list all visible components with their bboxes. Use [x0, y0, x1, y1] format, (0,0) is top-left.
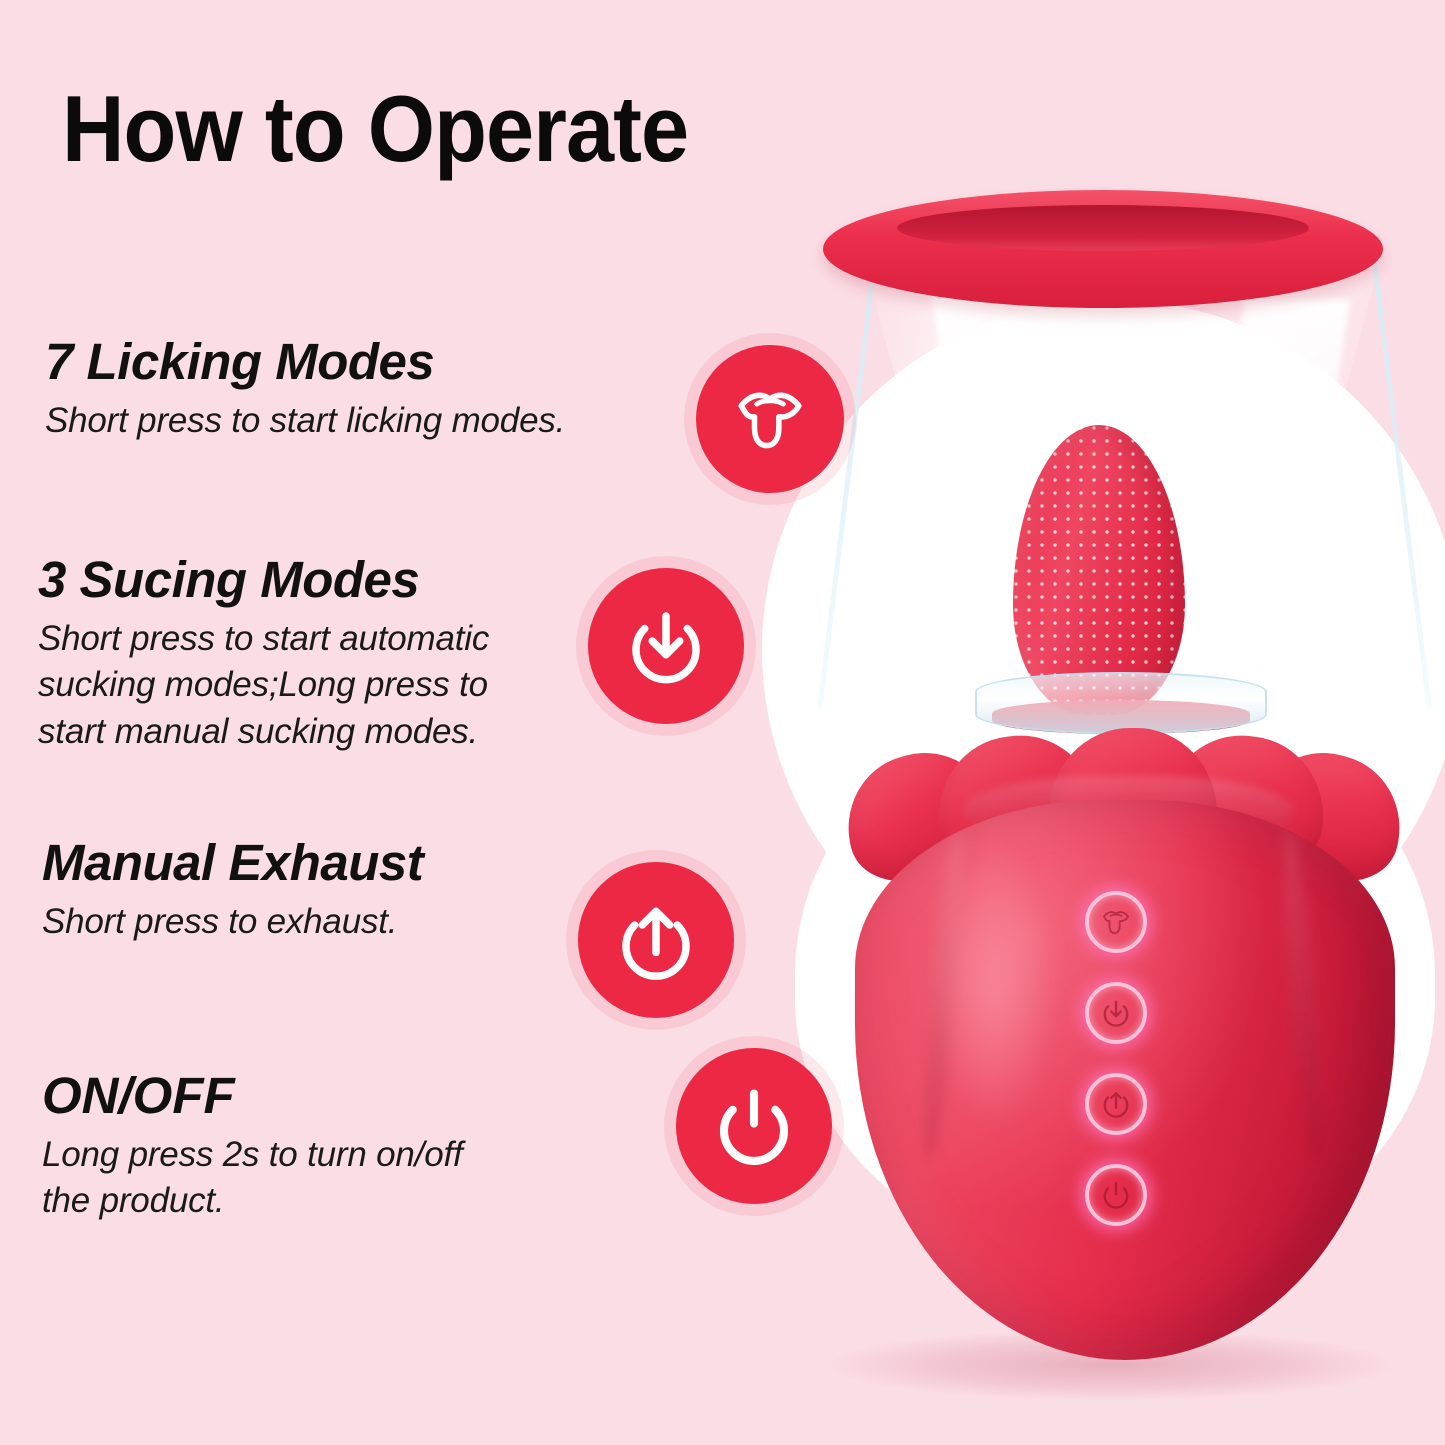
feature-licking: 7 Licking Modes Short press to start lic…: [45, 335, 565, 444]
cup-highlight-left: [930, 290, 1113, 690]
how-to-operate-infographic: How to Operate 7 Licking Modes Short pre…: [0, 0, 1445, 1445]
red-silicone-rim: [823, 190, 1383, 308]
white-backdrop-lower: [795, 690, 1435, 1260]
button-power[interactable]: [1085, 1164, 1147, 1226]
rim-inner-opening: [897, 205, 1309, 251]
petal-center: [1049, 728, 1217, 866]
feature-onoff: ON/OFF Long press 2s to turn on/off the …: [42, 1069, 472, 1225]
power-up-arrow-icon: [1101, 1089, 1131, 1119]
rose-bulb-body: [855, 800, 1395, 1360]
product-floor-shadow: [830, 1330, 1390, 1400]
page-title: How to Operate: [62, 82, 688, 176]
power-down-arrow-icon: [1101, 998, 1131, 1028]
button-exhaust[interactable]: [1085, 1073, 1147, 1135]
feature-heading: 3 Sucing Modes: [38, 553, 550, 607]
petal-left-outer: [832, 737, 1008, 894]
power-down-arrow-icon: [626, 606, 706, 686]
feature-description: Long press 2s to turn on/off the product…: [42, 1132, 472, 1225]
feature-heading: Manual Exhaust: [42, 836, 423, 890]
feature-heading: 7 Licking Modes: [45, 335, 565, 389]
power-icon: [714, 1086, 794, 1166]
badge-power[interactable]: [676, 1048, 832, 1204]
body-crease-left: [916, 829, 971, 1160]
power-icon: [1101, 1180, 1131, 1210]
textured-silicone-tongue: [1013, 425, 1185, 715]
badge-licking[interactable]: [696, 345, 844, 493]
feature-description: Short press to exhaust.: [42, 899, 423, 946]
feature-description: Short press to start automatic sucking m…: [38, 616, 550, 756]
badge-exhaust[interactable]: [578, 862, 734, 1018]
cup-highlight-right: [1185, 300, 1350, 680]
petal-right-outer: [1240, 737, 1416, 894]
body-highlight: [930, 840, 1060, 1130]
collar-fold-shading: [963, 776, 1293, 846]
petal-left-inner: [930, 727, 1105, 878]
white-backdrop-circle: [762, 300, 1445, 1000]
button-sucking[interactable]: [1085, 982, 1147, 1044]
transparent-suction-cup: [862, 255, 1382, 715]
lips-tongue-icon: [1101, 909, 1131, 935]
badge-sucking[interactable]: [588, 568, 744, 724]
feature-description: Short press to start licking modes.: [45, 398, 565, 445]
rose-petal-collar: [845, 728, 1401, 888]
feature-exhaust: Manual Exhaust Short press to exhaust.: [42, 836, 423, 945]
cup-edge-right: [1372, 262, 1432, 709]
petal-right-inner: [1158, 727, 1333, 878]
cup-base-ring: [975, 672, 1267, 734]
feature-sucking: 3 Sucing Modes Short press to start auto…: [38, 553, 550, 755]
lips-tongue-icon: [734, 388, 806, 450]
feature-heading: ON/OFF: [42, 1069, 472, 1123]
cup-edge-left: [817, 262, 877, 709]
button-licking[interactable]: [1085, 891, 1147, 953]
power-up-arrow-icon: [616, 900, 696, 980]
body-crease-right: [1276, 829, 1331, 1160]
cup-base-red-insert: [992, 700, 1250, 734]
tongue-glow: [1000, 412, 1198, 724]
